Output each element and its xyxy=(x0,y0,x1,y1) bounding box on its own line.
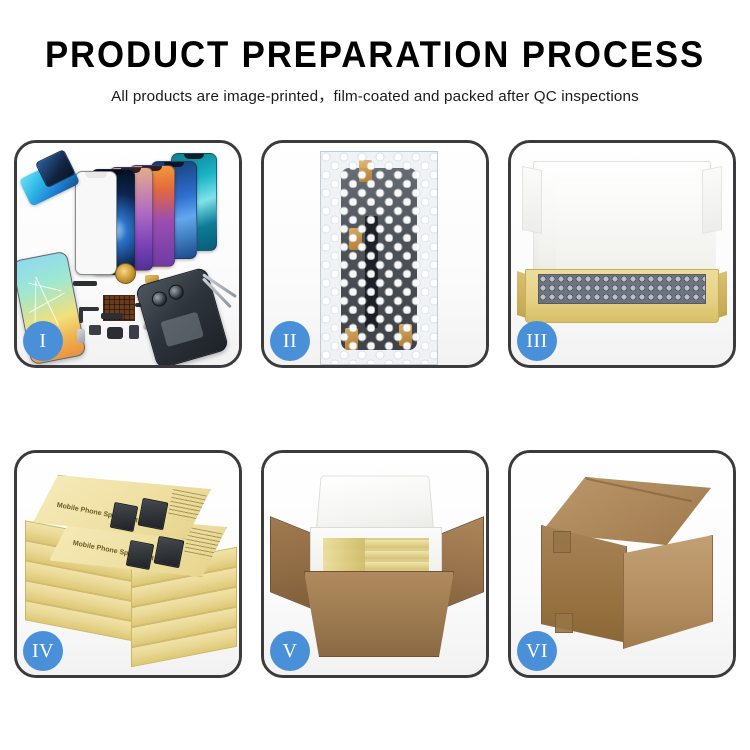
step-badge-3: III xyxy=(517,321,557,361)
box-window-image xyxy=(154,536,185,568)
process-step-6: VI xyxy=(508,450,736,678)
process-step-3: III xyxy=(508,140,736,368)
flex-cable xyxy=(79,307,83,323)
process-grid: I II xyxy=(14,140,736,678)
step-badge-2: II xyxy=(270,321,310,361)
camera-lens xyxy=(167,283,186,302)
housing-plate xyxy=(160,312,204,347)
header: PRODUCT PREPARATION PROCESS All products… xyxy=(0,36,750,106)
box-window-image xyxy=(126,540,155,570)
foam-liner xyxy=(556,182,716,270)
small-part xyxy=(89,325,101,335)
bubble-wrapped-contents xyxy=(538,274,706,304)
process-step-4: Mobile Phone Spare Parts Mobile Phone Sp… xyxy=(14,450,242,678)
box-lid xyxy=(533,161,711,279)
carton-body xyxy=(304,571,454,657)
step-badge-4: IV xyxy=(23,631,63,671)
process-step-1: I xyxy=(14,140,242,368)
step-badge-6: VI xyxy=(517,631,557,671)
crack-line xyxy=(28,283,61,292)
camera-module xyxy=(107,327,123,339)
crack-line xyxy=(34,281,36,327)
page-title: PRODUCT PREPARATION PROCESS xyxy=(23,36,728,75)
sealed-carton xyxy=(523,477,727,655)
notch xyxy=(184,154,204,159)
step-badge-5: V xyxy=(270,631,310,671)
step-badge-1: I xyxy=(23,321,63,361)
page-subtitle: All products are image-printed，film-coat… xyxy=(0,84,750,106)
speaker-component xyxy=(115,263,136,284)
small-part xyxy=(101,313,123,319)
carton-tape-tab xyxy=(553,531,571,553)
crack-line xyxy=(35,277,59,326)
product-preparation-infographic: PRODUCT PREPARATION PROCESS All products… xyxy=(0,0,750,750)
carton-tape-tab xyxy=(555,613,573,633)
bubble-texture xyxy=(321,152,437,364)
box-window-image xyxy=(110,502,139,532)
box-tray xyxy=(525,269,719,323)
carton-right-face xyxy=(623,535,713,649)
camera-lens xyxy=(150,290,169,309)
sim-tray xyxy=(77,329,85,343)
box-text-lines xyxy=(168,489,207,523)
process-step-2: II xyxy=(261,140,489,368)
process-step-5: V xyxy=(261,450,489,678)
small-part xyxy=(129,325,139,339)
bubble-wrap-bag xyxy=(320,151,438,365)
earpiece-component xyxy=(73,281,97,286)
phone-screen-fan xyxy=(75,151,225,259)
box-window-image xyxy=(138,498,169,530)
tweezers-tool xyxy=(203,263,242,323)
open-mailer-box xyxy=(519,161,725,351)
